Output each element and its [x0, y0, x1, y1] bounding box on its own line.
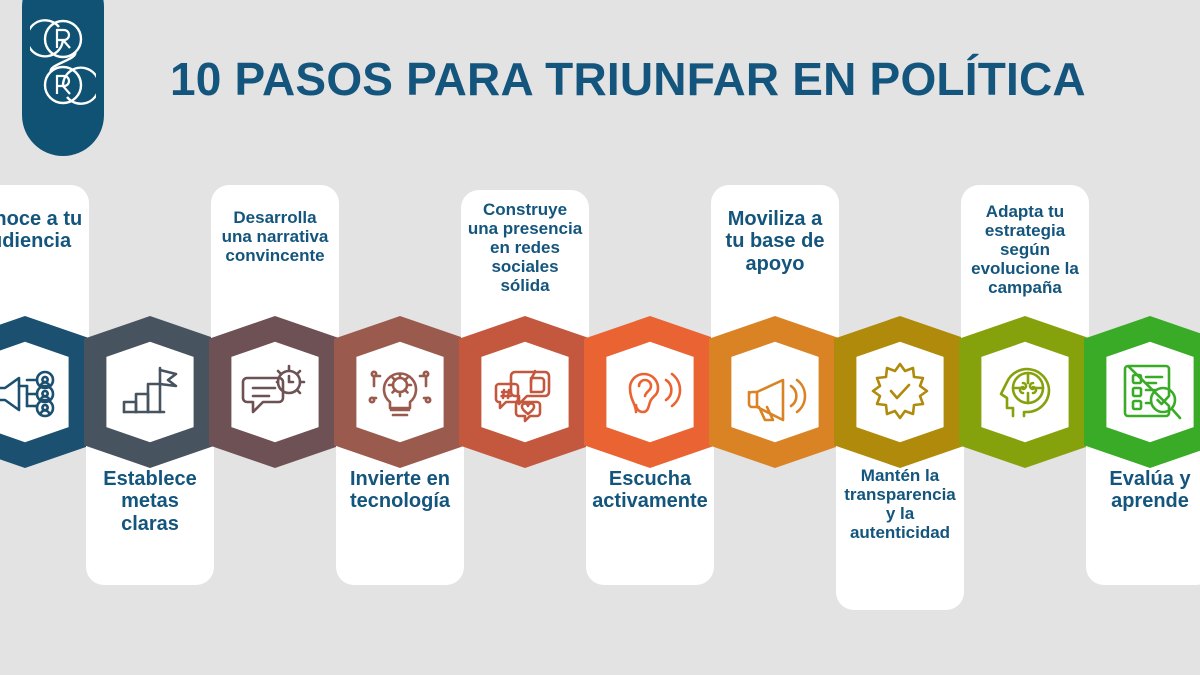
infographic-canvas: 10 PASOS PARA TRIUNFAR EN POLÍTICA Conoc…: [0, 0, 1200, 675]
hexagon-inner: [856, 342, 943, 442]
step-hexagon[interactable]: [580, 312, 720, 472]
step-label: Mantén la transparencia y la autenticida…: [842, 466, 958, 542]
step-label: Desarrolla una narrativa convincente: [217, 208, 333, 265]
step-label: Establece metas claras: [92, 468, 208, 535]
hexagon-inner: [481, 342, 568, 442]
step-hexagon[interactable]: [205, 312, 345, 472]
hexagon-inner: [231, 342, 318, 442]
step-label: Escucha activamente: [592, 468, 708, 513]
hexagon-inner: [0, 342, 69, 442]
step-label: Invierte en tecnología: [342, 468, 458, 513]
hexagon-inner: [106, 342, 193, 442]
step-label: Construye una presencia en redes sociale…: [467, 200, 583, 295]
hexagon-inner: [981, 342, 1068, 442]
step-label: Conoce a tu audiencia: [0, 208, 83, 253]
step-hexagon[interactable]: [330, 312, 470, 472]
step-hexagon[interactable]: [955, 312, 1095, 472]
step-label: Moviliza a tu base de apoyo: [717, 208, 833, 275]
step-hexagon[interactable]: [705, 312, 845, 472]
step-label: Adapta tu estrategia según evolucione la…: [967, 202, 1083, 297]
step-hexagon[interactable]: [80, 312, 220, 472]
step-hexagon[interactable]: [455, 312, 595, 472]
hexagon-inner: [1106, 342, 1193, 442]
step-hexagon[interactable]: [830, 312, 970, 472]
step-label: Evalúa y aprende: [1092, 468, 1200, 513]
step-hexagon[interactable]: [1080, 312, 1200, 472]
steps-chain: Conoce a tu audienciaEstablece metas cla…: [0, 0, 1200, 675]
